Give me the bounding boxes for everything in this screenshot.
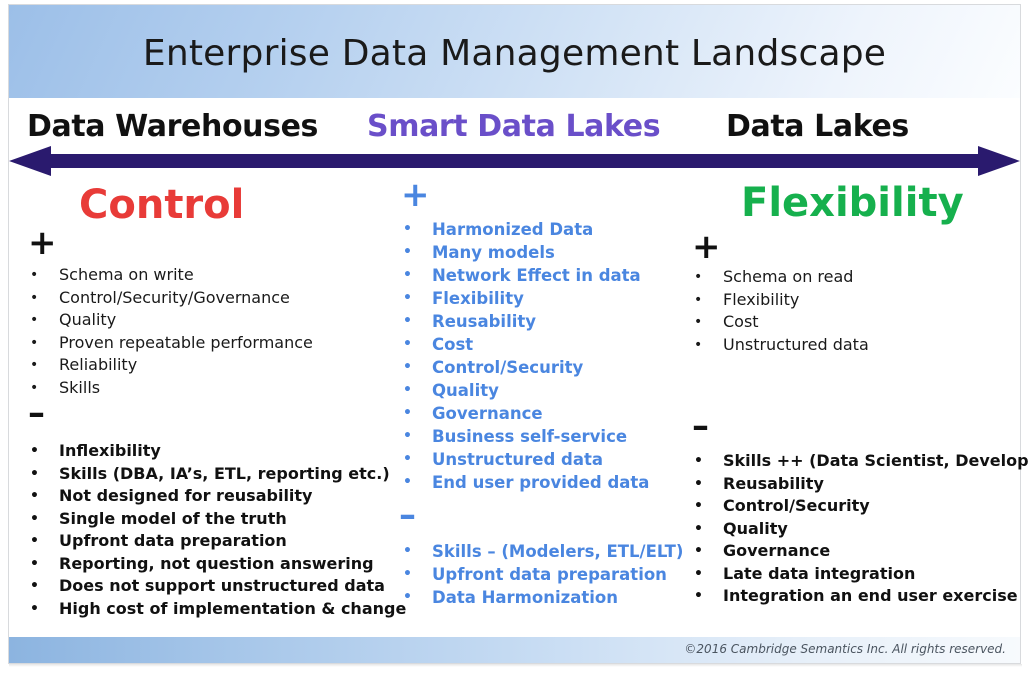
copyright-text: ©2016 Cambridge Semantics Inc. All right… xyxy=(684,642,1006,656)
slide-shadow xyxy=(9,664,1022,667)
cons-list-data-warehouses: •Inflexibility •Skills (DBA, IA’s, ETL, … xyxy=(26,440,406,620)
plus-sign-smart-data-lakes: + xyxy=(401,178,430,212)
bullet-icon: • xyxy=(30,530,39,553)
list-item: •Unstructured data xyxy=(399,448,649,471)
list-item-label: Flexibility xyxy=(432,289,524,308)
bullet-icon: • xyxy=(403,333,412,356)
list-item-label: Integration an end user exercise xyxy=(723,586,1018,605)
plus-sign-data-lakes: + xyxy=(692,230,721,264)
list-item: •Schema on write xyxy=(26,264,313,287)
bullet-icon: • xyxy=(403,379,412,402)
bullet-icon: • xyxy=(30,287,38,310)
list-item-label: Harmonized Data xyxy=(432,220,593,239)
axis-label-flexibility: Flexibility xyxy=(741,180,964,226)
pros-list-data-warehouses: •Schema on write •Control/Security/Gover… xyxy=(26,264,313,399)
list-item: •Control/Security xyxy=(690,495,1029,518)
column-header-smart-data-lakes: Smart Data Lakes xyxy=(367,109,660,144)
cons-list-smart-data-lakes: •Skills – (Modelers, ETL/ELT) •Upfront d… xyxy=(399,540,683,609)
list-item: •Quality xyxy=(399,379,649,402)
bullet-icon: • xyxy=(30,508,39,531)
column-header-data-lakes: Data Lakes xyxy=(726,109,909,144)
plus-sign-data-warehouses: + xyxy=(28,226,57,260)
list-item-label: Control/Security xyxy=(723,496,870,515)
list-item: •Reusability xyxy=(690,473,1029,496)
list-item-label: Schema on read xyxy=(723,267,853,286)
bullet-icon: • xyxy=(694,289,702,312)
list-item: •Cost xyxy=(399,333,649,356)
slide-canvas: Enterprise Data Management Landscape Dat… xyxy=(0,0,1029,674)
list-item-label: Business self-service xyxy=(432,427,627,446)
list-item-label: Governance xyxy=(723,541,830,560)
list-item: •Cost xyxy=(690,311,869,334)
list-item-label: Many models xyxy=(432,243,555,262)
list-item: •Reporting, not question answering xyxy=(26,553,406,576)
list-item-label: Data Harmonization xyxy=(432,588,618,607)
bullet-icon: • xyxy=(403,540,412,563)
list-item-label: Quality xyxy=(432,381,499,400)
list-item-label: Quality xyxy=(59,310,116,329)
bullet-icon: • xyxy=(694,266,702,289)
pros-list-smart-data-lakes: •Harmonized Data •Many models •Network E… xyxy=(399,218,649,494)
bullet-icon: • xyxy=(403,471,412,494)
minus-sign-smart-data-lakes: – xyxy=(399,498,416,532)
bullet-icon: • xyxy=(30,575,39,598)
list-item: •Harmonized Data xyxy=(399,218,649,241)
minus-sign-data-warehouses: – xyxy=(28,396,45,430)
list-item-label: Quality xyxy=(723,519,788,538)
list-item: •Skills ++ (Data Scientist, Developer) xyxy=(690,450,1029,473)
list-item-label: Single model of the truth xyxy=(59,509,287,528)
list-item-label: Skills – (Modelers, ETL/ELT) xyxy=(432,542,683,561)
list-item: •Integration an end user exercise xyxy=(690,585,1029,608)
list-item: •Late data integration xyxy=(690,563,1029,586)
list-item-label: Skills (DBA, IA’s, ETL, reporting etc.) xyxy=(59,464,390,483)
bullet-icon: • xyxy=(403,310,412,333)
list-item-label: Does not support unstructured data xyxy=(59,576,385,595)
list-item: •High cost of implementation & change xyxy=(26,598,406,621)
list-item: •Quality xyxy=(690,518,1029,541)
bullet-icon: • xyxy=(30,463,39,486)
bullet-icon: • xyxy=(30,354,38,377)
bullet-icon: • xyxy=(403,287,412,310)
list-item-label: Inflexibility xyxy=(59,441,161,460)
list-item-label: Governance xyxy=(432,404,543,423)
list-item-label: Control/Security/Governance xyxy=(59,288,290,307)
list-item-label: Cost xyxy=(432,335,473,354)
bullet-icon: • xyxy=(694,563,703,586)
bullet-icon: • xyxy=(403,356,412,379)
list-item: •Many models xyxy=(399,241,649,264)
list-item: •Single model of the truth xyxy=(26,508,406,531)
list-item-label: High cost of implementation & change xyxy=(59,599,406,618)
title-band: Enterprise Data Management Landscape xyxy=(9,5,1020,98)
list-item: •Schema on read xyxy=(690,266,869,289)
bullet-icon: • xyxy=(30,332,38,355)
list-item: •Skills (DBA, IA’s, ETL, reporting etc.) xyxy=(26,463,406,486)
footer-band: ©2016 Cambridge Semantics Inc. All right… xyxy=(9,637,1020,663)
list-item: •End user provided data xyxy=(399,471,649,494)
list-item-label: Upfront data preparation xyxy=(432,565,667,584)
list-item-label: Proven repeatable performance xyxy=(59,333,313,352)
pros-list-data-lakes: •Schema on read •Flexibility •Cost •Unst… xyxy=(690,266,869,356)
bullet-icon: • xyxy=(694,334,702,357)
bullet-icon: • xyxy=(403,218,412,241)
bullet-icon: • xyxy=(403,563,412,586)
list-item: •Flexibility xyxy=(690,289,869,312)
bullet-icon: • xyxy=(694,450,703,473)
list-item: •Not designed for reusability xyxy=(26,485,406,508)
bullet-icon: • xyxy=(403,448,412,471)
bullet-icon: • xyxy=(403,425,412,448)
bullet-icon: • xyxy=(30,485,39,508)
list-item: •Upfront data preparation xyxy=(399,563,683,586)
bullet-icon: • xyxy=(30,598,39,621)
list-item-label: Network Effect in data xyxy=(432,266,641,285)
list-item: •Does not support unstructured data xyxy=(26,575,406,598)
page-title: Enterprise Data Management Landscape xyxy=(9,33,1020,74)
list-item-label: Unstructured data xyxy=(723,335,869,354)
bullet-icon: • xyxy=(30,440,39,463)
list-item-label: Upfront data preparation xyxy=(59,531,287,550)
list-item: •Governance xyxy=(399,402,649,425)
list-item-label: Skills ++ (Data Scientist, Developer) xyxy=(723,451,1029,470)
list-item: •Reusability xyxy=(399,310,649,333)
bullet-icon: • xyxy=(403,264,412,287)
list-item-label: Not designed for reusability xyxy=(59,486,312,505)
list-item-label: Unstructured data xyxy=(432,450,603,469)
list-item: •Inflexibility xyxy=(26,440,406,463)
list-item-label: Control/Security xyxy=(432,358,583,377)
list-item-label: Late data integration xyxy=(723,564,915,583)
list-item: •Upfront data preparation xyxy=(26,530,406,553)
double-headed-arrow-icon xyxy=(9,146,1020,176)
list-item-label: Reusability xyxy=(432,312,536,331)
bullet-icon: • xyxy=(403,241,412,264)
list-item: •Proven repeatable performance xyxy=(26,332,313,355)
bullet-icon: • xyxy=(694,495,703,518)
bullet-icon: • xyxy=(30,553,39,576)
list-item: •Flexibility xyxy=(399,287,649,310)
bullet-icon: • xyxy=(694,311,702,334)
list-item: •Control/Security xyxy=(399,356,649,379)
bullet-icon: • xyxy=(694,473,703,496)
column-header-data-warehouses: Data Warehouses xyxy=(27,109,318,144)
list-item-label: End user provided data xyxy=(432,473,649,492)
bullet-icon: • xyxy=(694,518,703,541)
list-item-label: Flexibility xyxy=(723,290,799,309)
list-item-label: Schema on write xyxy=(59,265,194,284)
bullet-icon: • xyxy=(694,585,703,608)
list-item: •Quality xyxy=(26,309,313,332)
list-item: •Business self-service xyxy=(399,425,649,448)
list-item-label: Cost xyxy=(723,312,759,331)
list-item: •Network Effect in data xyxy=(399,264,649,287)
bullet-icon: • xyxy=(694,540,703,563)
bullet-icon: • xyxy=(403,402,412,425)
minus-sign-data-lakes: – xyxy=(692,409,709,443)
list-item: •Control/Security/Governance xyxy=(26,287,313,310)
list-item: •Governance xyxy=(690,540,1029,563)
list-item-label: Reporting, not question answering xyxy=(59,554,374,573)
list-item: •Data Harmonization xyxy=(399,586,683,609)
axis-label-control: Control xyxy=(79,182,244,228)
list-item-label: Reliability xyxy=(59,355,137,374)
list-item: •Skills – (Modelers, ETL/ELT) xyxy=(399,540,683,563)
cons-list-data-lakes: •Skills ++ (Data Scientist, Developer) •… xyxy=(690,450,1029,608)
bullet-icon: • xyxy=(403,586,412,609)
bullet-icon: • xyxy=(30,309,38,332)
bullet-icon: • xyxy=(30,264,38,287)
list-item-label: Reusability xyxy=(723,474,824,493)
list-item-label: Skills xyxy=(59,378,100,397)
list-item: •Skills xyxy=(26,377,313,400)
list-item: •Reliability xyxy=(26,354,313,377)
list-item: •Unstructured data xyxy=(690,334,869,357)
